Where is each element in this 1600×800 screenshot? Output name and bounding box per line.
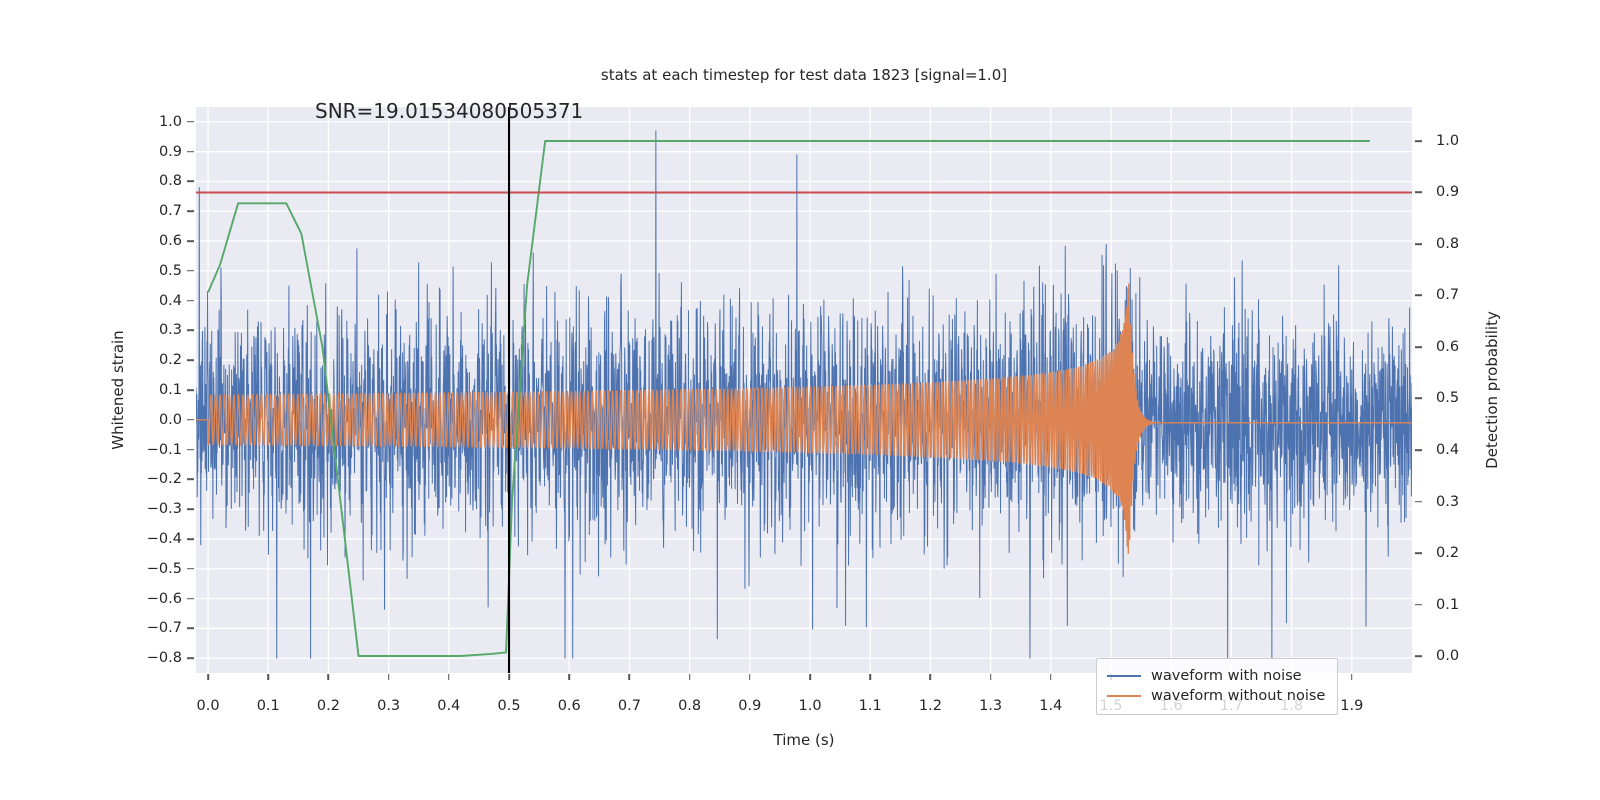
y-tick-mark-left [187, 330, 194, 332]
y-tick-mark-left [187, 389, 194, 391]
y-tick-mark-left [187, 151, 194, 153]
x-tick-mark [267, 674, 269, 680]
y-tick-label-left: 1.0 [159, 114, 182, 130]
page-title: stats at each timestep for test data 182… [196, 66, 1412, 84]
y-tick-mark-left [187, 479, 194, 481]
x-axis-label: Time (s) [774, 731, 835, 749]
y-tick-mark-right [1415, 243, 1422, 245]
y-tick-mark-right [1415, 449, 1422, 451]
x-tick-mark [930, 674, 932, 680]
x-tick-label: 0.9 [738, 698, 761, 714]
y-tick-label-left: −0.5 [147, 561, 182, 577]
y-tick-mark-right [1415, 140, 1422, 142]
y-tick-label-left: 0.2 [159, 352, 182, 368]
y-tick-mark-left [187, 657, 194, 659]
y-tick-label-right: 0.9 [1436, 184, 1459, 200]
y-tick-mark-left [187, 449, 194, 451]
x-tick-mark [508, 674, 510, 680]
x-tick-label: 1.3 [979, 698, 1002, 714]
x-tick-label: 1.0 [798, 698, 821, 714]
x-tick-mark [990, 674, 992, 680]
y-tick-label-left: −0.2 [147, 471, 182, 487]
x-tick-mark [809, 674, 811, 680]
x-tick-mark [1351, 674, 1353, 680]
x-tick-label: 0.4 [437, 698, 460, 714]
x-tick-label: 0.1 [257, 698, 280, 714]
y-tick-label-left: 0.9 [159, 144, 182, 160]
legend-swatch-with-noise [1107, 675, 1141, 677]
x-tick-label: 0.7 [618, 698, 641, 714]
y-tick-mark-right [1415, 501, 1422, 503]
y-tick-label-right: 0.5 [1436, 390, 1459, 406]
y-tick-label-left: 0.1 [159, 382, 182, 398]
legend-swatch-without-noise [1107, 695, 1141, 697]
y-tick-mark-left [187, 181, 194, 183]
y-tick-mark-left [187, 210, 194, 212]
overlay-layer [196, 107, 1412, 673]
y-tick-label-left: 0.0 [159, 412, 182, 428]
x-tick-mark [749, 674, 751, 680]
x-tick-label: 1.1 [859, 698, 882, 714]
series-detection-probability [208, 141, 1370, 656]
y-tick-label-left: −0.6 [147, 591, 182, 607]
y-tick-label-left: −0.1 [147, 442, 182, 458]
y-tick-mark-left [187, 598, 194, 600]
x-tick-label: 1.4 [1039, 698, 1062, 714]
legend-label: waveform with noise [1151, 668, 1302, 684]
y-tick-mark-right [1415, 398, 1422, 400]
y-tick-label-right: 0.2 [1436, 545, 1459, 561]
legend-label: waveform without noise [1151, 688, 1325, 704]
y-tick-label-left: −0.7 [147, 620, 182, 636]
y-tick-label-left: 0.4 [159, 293, 182, 309]
x-tick-label: 0.3 [377, 698, 400, 714]
legend-item: waveform without noise [1107, 686, 1325, 706]
snr-annotation: SNR=19.01534080505371 [315, 99, 583, 123]
legend-item: waveform with noise [1107, 666, 1325, 686]
y-tick-mark-left [187, 270, 194, 272]
x-tick-mark [1050, 674, 1052, 680]
y-tick-label-left: 0.3 [159, 322, 182, 338]
y-tick-mark-left [187, 508, 194, 510]
y-tick-mark-right [1415, 552, 1422, 554]
x-tick-mark [388, 674, 390, 680]
y-tick-mark-right [1415, 295, 1422, 297]
x-tick-label: 0.5 [497, 698, 520, 714]
y-tick-label-right: 0.4 [1436, 442, 1459, 458]
y-tick-mark-right [1415, 604, 1422, 606]
x-tick-mark [629, 674, 631, 680]
x-tick-mark [689, 674, 691, 680]
y-axis-label-right: Detection probability [1483, 311, 1501, 469]
legend: waveform with noise waveform without noi… [1096, 658, 1338, 715]
figure-canvas: stats at each timestep for test data 182… [0, 0, 1600, 800]
y-tick-label-left: 0.5 [159, 263, 182, 279]
y-tick-label-left: 0.8 [159, 173, 182, 189]
y-tick-mark-right [1415, 655, 1422, 657]
y-tick-mark-left [187, 300, 194, 302]
y-tick-label-right: 0.0 [1436, 648, 1459, 664]
y-tick-label-left: 0.7 [159, 203, 182, 219]
y-tick-label-right: 0.7 [1436, 287, 1459, 303]
x-tick-mark [207, 674, 209, 680]
y-tick-mark-left [187, 538, 194, 540]
y-tick-mark-right [1415, 192, 1422, 194]
y-tick-mark-left [187, 240, 194, 242]
y-tick-mark-left [187, 121, 194, 123]
y-tick-label-right: 0.8 [1436, 236, 1459, 252]
y-tick-label-left: −0.3 [147, 501, 182, 517]
x-tick-label: 0.8 [678, 698, 701, 714]
y-tick-label-right: 0.6 [1436, 339, 1459, 355]
y-tick-label-right: 0.3 [1436, 494, 1459, 510]
y-tick-mark-left [187, 628, 194, 630]
x-tick-label: 1.2 [919, 698, 942, 714]
plot-area [196, 107, 1412, 673]
y-tick-label-right: 1.0 [1436, 133, 1459, 149]
y-tick-mark-left [187, 419, 194, 421]
x-tick-label: 1.9 [1340, 698, 1363, 714]
x-tick-mark [568, 674, 570, 680]
y-tick-label-left: 0.6 [159, 233, 182, 249]
y-axis-label-left: Whitened strain [109, 330, 127, 449]
y-tick-mark-left [187, 359, 194, 361]
y-tick-label-left: −0.8 [147, 650, 182, 666]
x-tick-label: 0.2 [317, 698, 340, 714]
x-tick-mark [328, 674, 330, 680]
x-tick-mark [448, 674, 450, 680]
y-tick-mark-right [1415, 346, 1422, 348]
y-tick-mark-left [187, 568, 194, 570]
y-tick-label-right: 0.1 [1436, 597, 1459, 613]
x-tick-label: 0.6 [558, 698, 581, 714]
x-tick-mark [869, 674, 871, 680]
x-tick-label: 0.0 [197, 698, 220, 714]
y-tick-label-left: −0.4 [147, 531, 182, 547]
